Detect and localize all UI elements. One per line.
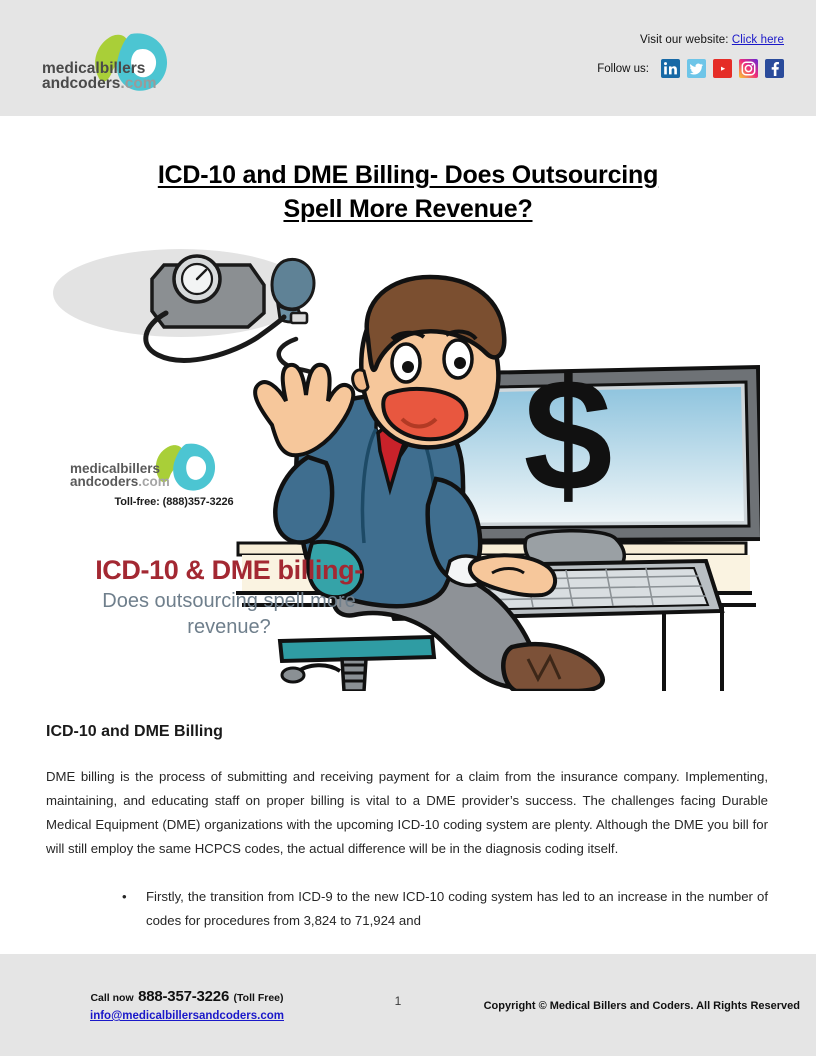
page-header: medicalbillers andcoders.com Visit our w… [0,0,816,116]
hero-logo-block: medicalbillers andcoders.com Toll-free: … [64,438,284,508]
company-logo: medicalbillers andcoders.com [38,28,186,96]
instagram-icon[interactable] [739,59,758,78]
svg-text:andcoders.com: andcoders.com [42,75,157,92]
page-title-line1: ICD-10 and DME Billing- Does Outsourcing [158,161,658,189]
bullet-list: • Firstly, the transition from ICD-9 to … [46,885,768,933]
header-links: Visit our website: Click here Follow us: [484,34,784,78]
bullet-icon: • [122,885,127,909]
call-now-label: Call now [90,992,133,1004]
youtube-icon[interactable] [713,59,732,78]
footer-contact: Call now 888-357-3226 (Toll Free) info@m… [62,988,312,1024]
twitter-icon[interactable] [687,59,706,78]
page-number: 1 [374,994,422,1008]
toll-free-note: (Toll Free) [234,992,284,1004]
follow-us-label: Follow us: [597,63,649,75]
page-footer: Call now 888-357-3226 (Toll Free) info@m… [0,954,816,1056]
hero-company-logo: medicalbillers andcoders.com [64,438,254,494]
monitor-dollar-symbol: $ [524,345,613,524]
list-item-text: Firstly, the transition from ICD-9 to th… [146,889,768,928]
page-title: ICD-10 and DME Billing- Does Outsourcing… [70,159,746,227]
body-paragraph: DME billing is the process of submitting… [46,765,768,861]
facebook-icon[interactable] [765,59,784,78]
visit-website-line: Visit our website: Click here [484,34,784,46]
list-item: • Firstly, the transition from ICD-9 to … [46,885,768,933]
footer-phone: 888-357-3226 [138,988,229,1005]
document-page: medicalbillers andcoders.com Visit our w… [0,0,816,1056]
follow-us-line: Follow us: [484,59,784,78]
hero-tollfree: Toll-free: (888)357-3226 [64,496,284,508]
click-here-link[interactable]: Click here [732,34,784,46]
copyright-text: Copyright © Medical Billers and Coders. … [484,1000,800,1012]
svg-text:andcoders.com: andcoders.com [70,474,170,489]
hero-illustration: $ [46,243,760,691]
visit-website-label: Visit our website: [640,34,729,46]
footer-email-link[interactable]: info@medicalbillersandcoders.com [90,1010,284,1022]
linkedin-icon[interactable] [661,59,680,78]
section-heading: ICD-10 and DME Billing [46,723,223,741]
page-title-line2: Spell More Revenue? [283,195,532,223]
